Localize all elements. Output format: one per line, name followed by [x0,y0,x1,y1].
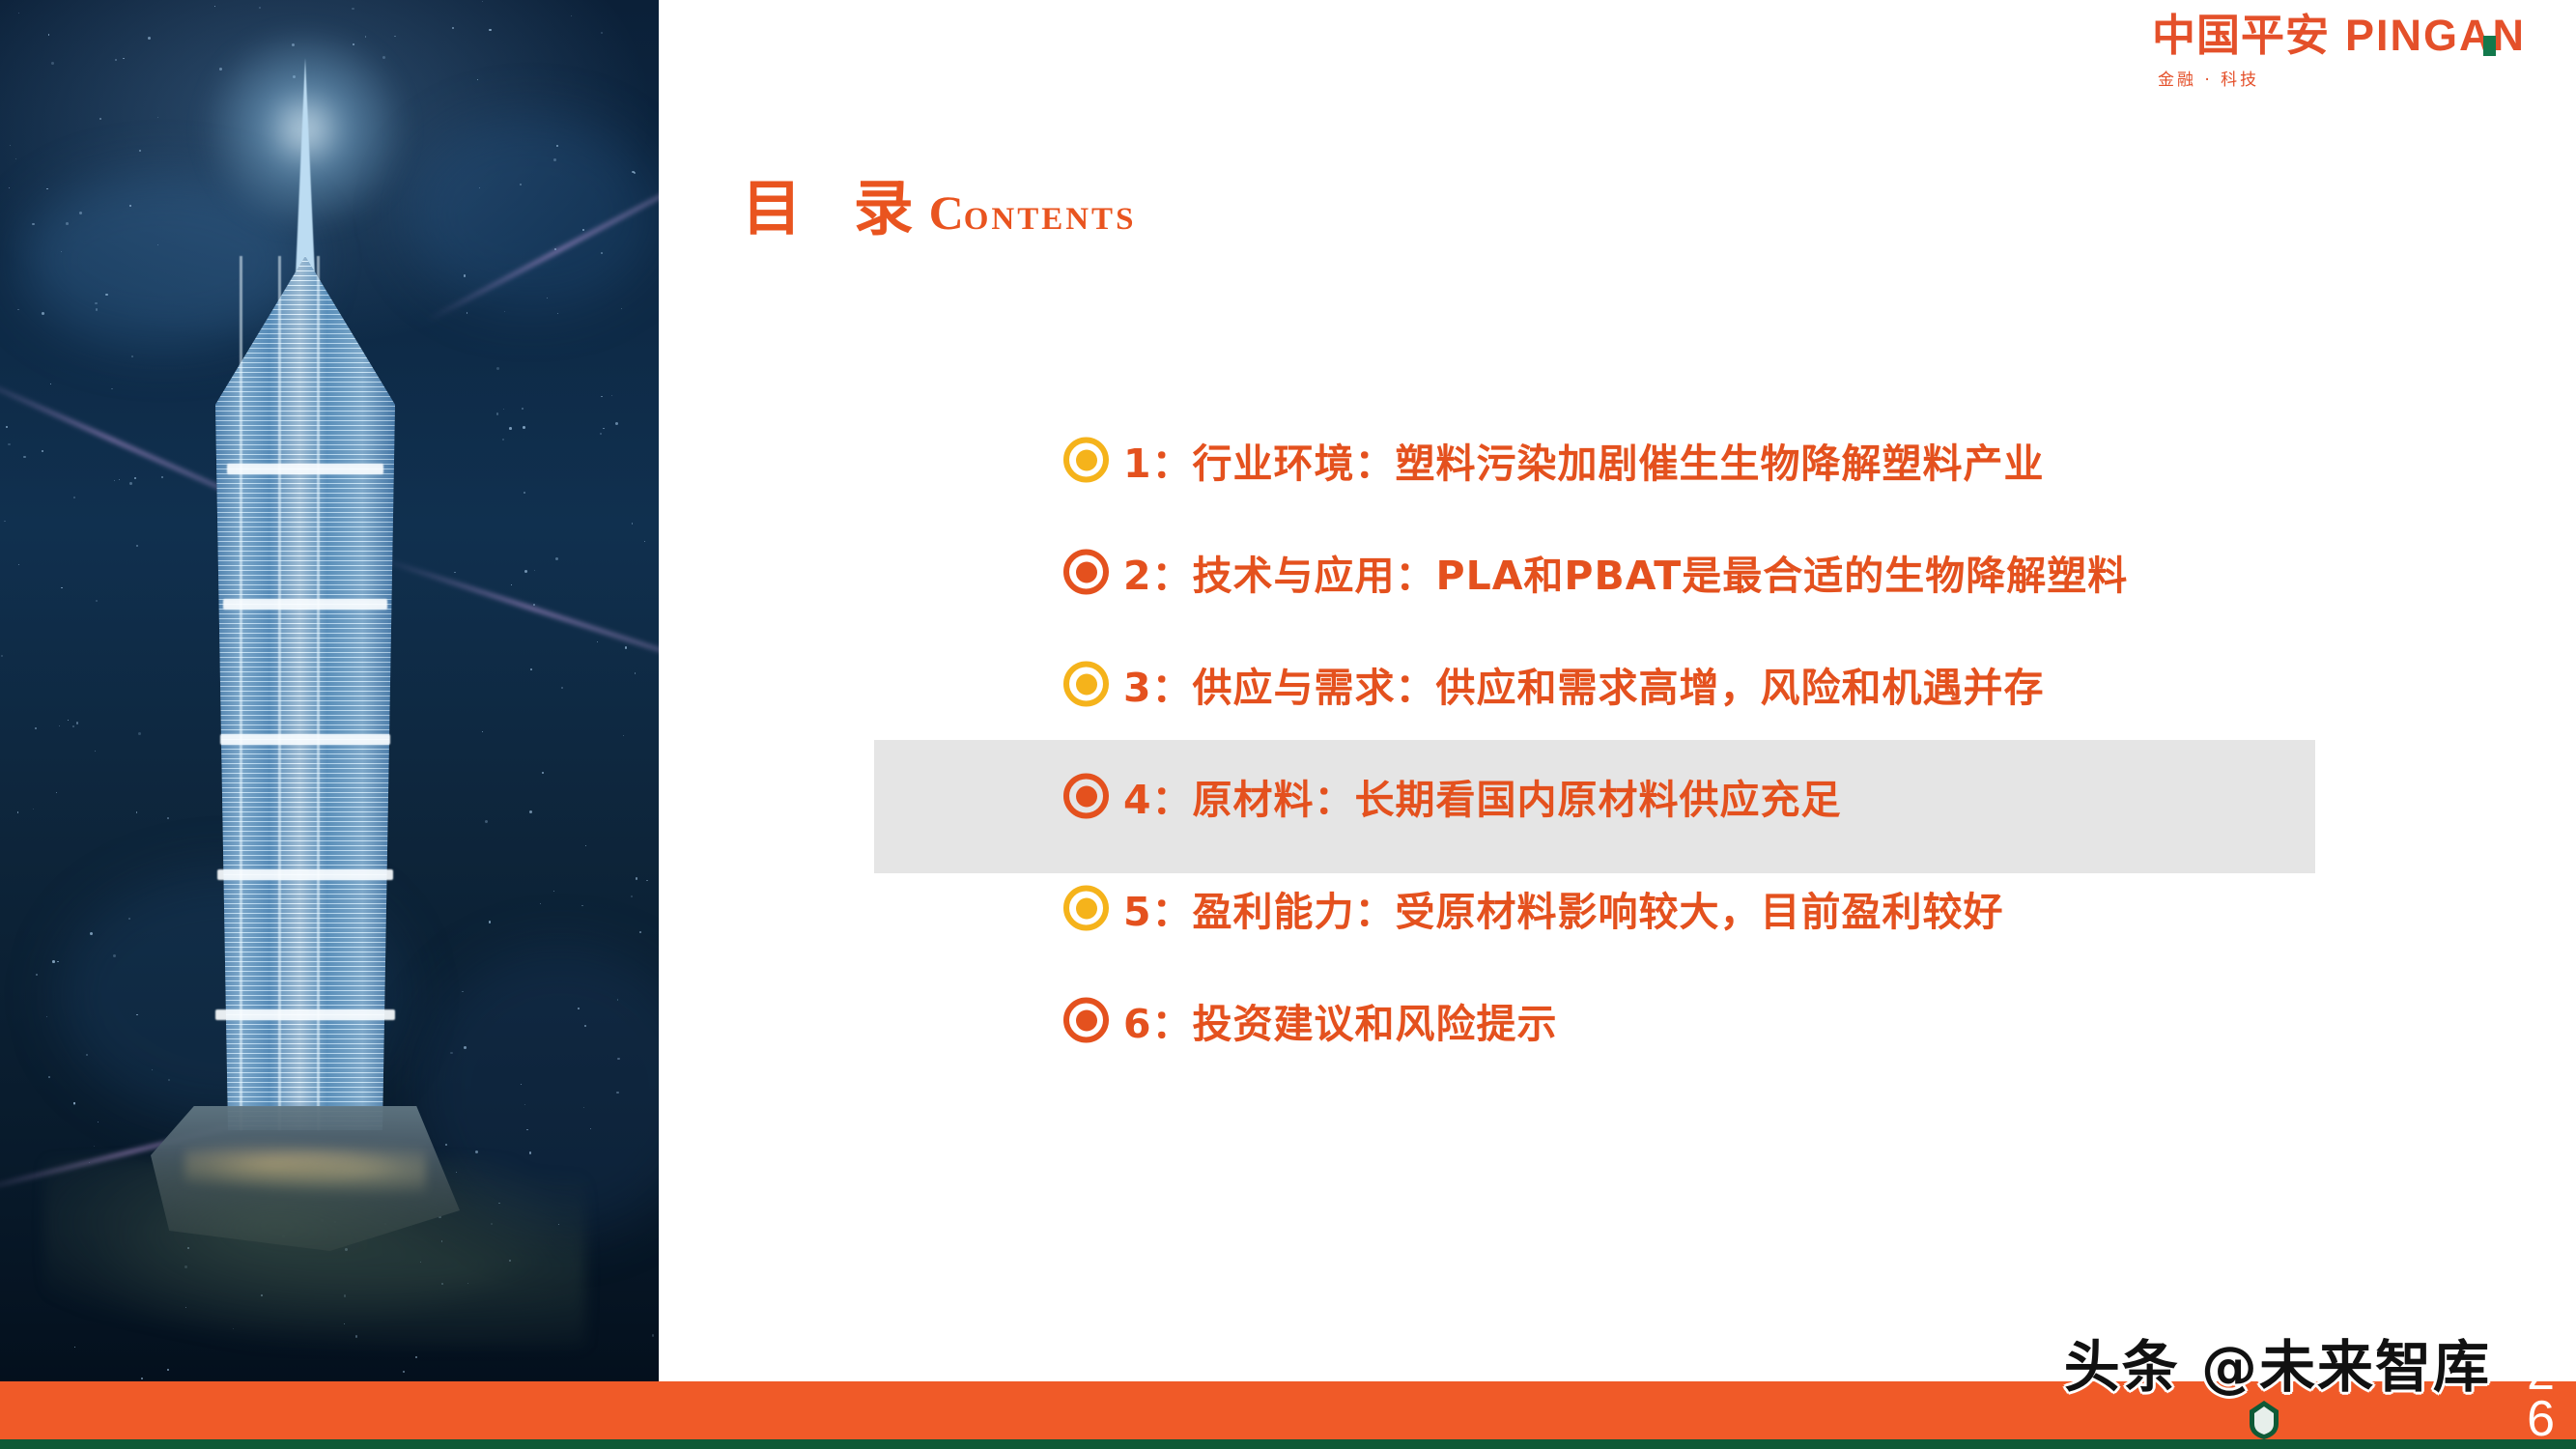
city-light [10,145,12,147]
toc-item-label: 1：行业环境：塑料污染加剧催生生物降解塑料产业 [1123,431,2045,489]
city-light [625,646,627,648]
city-light [632,523,633,524]
city-light [639,931,641,933]
bullet-circle-icon [1063,662,1109,707]
city-light [556,145,558,147]
city-light [482,731,483,732]
city-light [51,62,54,65]
city-light [4,521,6,523]
city-light [571,15,572,16]
city-light [652,1334,655,1337]
city-light [534,570,535,571]
city-light [553,891,554,892]
city-light [61,251,62,252]
city-light [511,584,512,585]
city-light [496,412,499,415]
toc-item-label: 2：技术与应用：PLA和PBAT是最合适的生物降解塑料 [1123,543,2128,601]
tower-spire [296,58,315,275]
city-light [542,772,545,775]
city-light [623,735,624,736]
city-light [6,426,8,428]
city-light [73,497,75,498]
city-light [403,1371,405,1373]
city-light [73,1102,76,1105]
logo-english-text: PINGAN [2345,11,2526,60]
city-light [59,725,61,727]
city-light [557,313,558,314]
logo-tagline: 金融 · 科技 [2158,66,2526,90]
tower-light-band [227,464,383,474]
city-light [214,6,215,7]
toc-item-label: 6：投资建议和风险提示 [1123,991,1558,1049]
city-light [96,600,98,602]
city-light [635,672,637,674]
city-light [646,880,648,882]
watermark: 头条 @未来智库 [2064,1321,2491,1403]
city-light [50,384,51,384]
city-light [631,895,633,897]
city-light [590,1128,591,1129]
city-light [485,820,488,823]
city-light [111,388,113,390]
city-light [115,59,117,61]
city-light [136,811,138,813]
city-light [352,8,354,11]
city-light [90,932,93,935]
page-title-chinese: 目 录 [742,179,929,239]
city-light [105,294,108,297]
city-light [119,479,120,480]
city-light [636,877,637,879]
pingan-logo: 中国平安 PINGAN 金融 · 科技 [2152,14,2526,90]
toc-item-6[interactable]: 6：投资建议和风险提示 [874,964,2323,1076]
logo-wordmark: 中国平安 PINGAN [2152,14,2526,57]
toc-item-4[interactable]: 4：原材料：长期看国内原材料供应充足 [874,740,2323,852]
city-light [94,1146,95,1147]
city-light [259,7,261,9]
city-light [138,732,141,735]
city-light [66,222,69,225]
tower-mullion [317,256,320,1130]
city-light [48,34,49,35]
city-light [36,974,38,976]
logo-green-accent-icon [2483,36,2496,56]
toc-item-5[interactable]: 5：盈利能力：受原材料影响较大，目前盈利较好 [874,852,2323,964]
city-light [95,751,97,753]
city-light [141,1378,143,1379]
city-light [72,725,74,727]
watermark-shield-icon [2242,1397,2286,1441]
city-light [467,312,467,313]
city-light [530,668,532,670]
bullet-ring [1063,550,1109,595]
city-light [522,408,524,410]
city-light [496,367,499,370]
city-light [95,302,98,305]
city-light [509,427,512,430]
city-light [68,720,69,721]
city-light [17,309,19,311]
city-light [17,811,19,813]
city-light [601,396,602,397]
city-light [529,1151,531,1153]
page-title: 目 录 C ONTENTS [742,179,1136,239]
city-light [452,27,454,29]
logo-chinese-name: 中国平安 [2152,14,2330,57]
city-light [581,905,583,907]
city-light [601,32,603,34]
city-light [415,1356,418,1359]
city-light [601,252,603,254]
city-light [123,58,124,59]
city-light [131,355,133,357]
bullet-circle-icon [1063,438,1109,483]
city-light [46,1016,47,1017]
city-light [617,999,619,1001]
city-light [479,187,480,188]
city-light [561,687,563,689]
city-light [578,1008,580,1009]
toc-item-label: 4：原材料：长期看国内原材料供应充足 [1123,767,1842,825]
logo-english-name: PINGAN [2345,14,2526,57]
city-light [603,428,605,430]
city-light [584,1025,586,1027]
tower-light-band [220,734,390,745]
city-light [1,655,3,657]
city-light [8,443,10,445]
city-light [18,13,20,14]
bullet-circle-icon [1063,774,1109,819]
city-light [503,409,504,410]
bullet-circle-icon [1063,998,1109,1043]
city-light [600,433,602,435]
tower [151,58,460,1246]
city-light [136,545,138,547]
table-of-contents: 1：行业环境：塑料污染加剧催生生物降解塑料产业2：技术与应用：PLA和PBAT是… [874,404,2323,1076]
city-light [489,921,491,923]
bullet-ring [1063,662,1109,707]
cover-photo-skyscraper-night [0,0,659,1381]
bullet-circle-icon [1063,886,1109,931]
city-light [35,727,36,728]
page-title-english-rest: ONTENTS [964,204,1137,236]
city-light [42,450,43,452]
city-light [524,570,527,573]
watermark-text: 头条 @未来智库 [2064,1321,2491,1403]
city-light [33,809,34,810]
city-light [139,150,141,152]
city-light [96,308,98,310]
city-light [42,312,44,315]
city-light [523,426,525,429]
city-light [477,79,478,80]
city-light [585,845,586,846]
toc-item-3[interactable]: 3：供应与需求：供应和需求高增，风险和机遇并存 [874,628,2323,740]
city-light [129,482,132,485]
city-light [615,422,618,425]
footer-green-bar [0,1439,2576,1449]
toc-item-label: 3：供应与需求：供应和需求高增，风险和机遇并存 [1123,655,2045,713]
city-light [555,557,558,560]
city-light [524,492,525,494]
city-light [621,308,622,309]
presentation-slide: 中国平安 PINGAN 金融 · 科技 目 录 C ONTENTS 1：行业环境… [0,0,2576,1449]
tower-mullion [278,256,281,1130]
page-title-english-initial: C [929,188,964,237]
bullet-ring [1063,774,1109,819]
city-light [394,36,396,38]
bullet-ring [1063,998,1109,1043]
tower-light-band [217,869,393,880]
city-light [644,541,645,542]
page-number: 26 [2527,1350,2555,1443]
city-light [464,1046,467,1049]
city-light [114,480,115,481]
bullet-circle-icon [1063,550,1109,595]
city-light [76,722,79,724]
city-light [533,604,535,606]
city-light [99,118,101,120]
city-light [98,1122,99,1122]
toc-item-1[interactable]: 1：行业环境：塑料污染加剧催生生物降解塑料产业 [874,404,2323,516]
city-light [134,477,136,479]
city-light [61,587,63,589]
city-light [15,158,16,159]
tower-light-band [223,599,387,610]
city-light [148,37,151,40]
city-light [113,954,116,957]
city-light [597,641,598,642]
tower-mullion [240,256,242,1130]
city-light [57,961,59,963]
bullet-ring [1063,438,1109,483]
toc-item-2[interactable]: 2：技术与应用：PLA和PBAT是最合适的生物降解塑料 [874,516,2323,628]
bullet-ring [1063,886,1109,931]
city-light [86,1054,88,1056]
city-light [611,395,612,396]
city-light [46,188,48,190]
city-light [23,456,25,458]
city-light [56,792,58,794]
city-light [18,564,20,566]
toc-item-label: 5：盈利能力：受原材料影响较大，目前盈利较好 [1123,879,2004,937]
city-light [48,1076,50,1078]
city-light [489,29,492,32]
city-light [167,1369,169,1371]
city-light [502,439,505,441]
plaza-landscaping [44,1159,585,1348]
city-light [504,311,505,312]
city-light [540,903,541,904]
city-light [9,187,10,188]
city-light [365,36,367,38]
city-light [529,810,532,813]
city-light [582,229,584,231]
city-light [52,960,55,963]
city-light [632,171,634,173]
city-light [482,1,483,2]
tower-light-band [215,1009,395,1020]
